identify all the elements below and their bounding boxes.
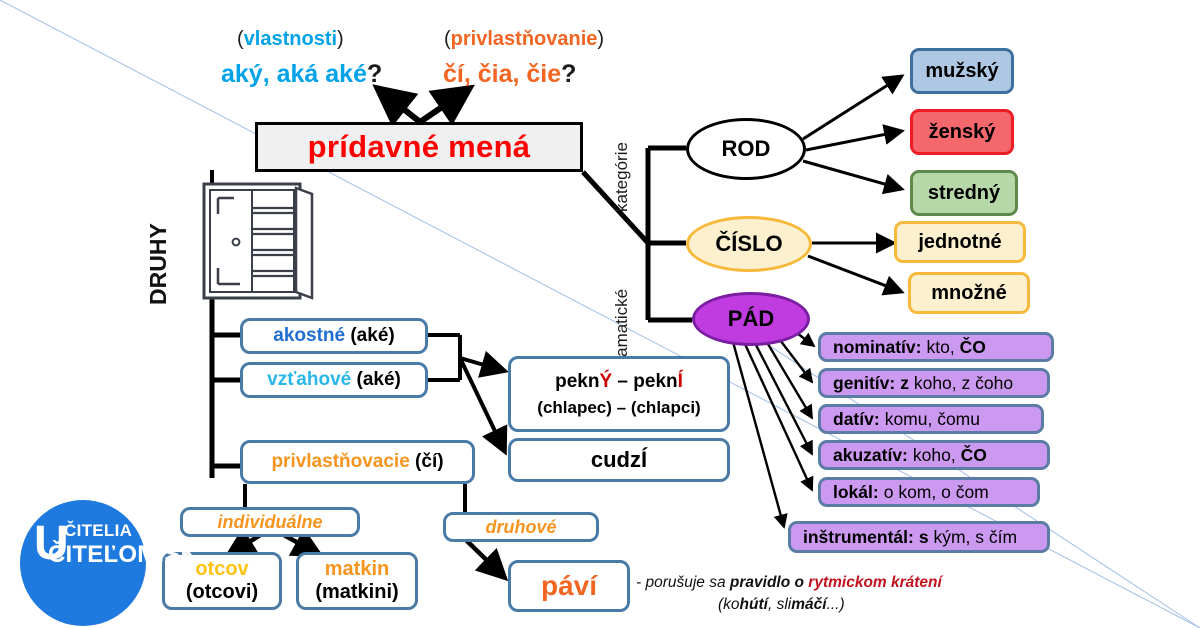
case-questions: kto, ČO [926, 337, 985, 358]
footnote-line-1: - porušuje sa pravidlo o rytmickom kráte… [636, 572, 942, 594]
gender-muzsky: mužský [910, 48, 1014, 94]
case-questions: s kým, s čím [919, 527, 1017, 548]
number-mnozne: množné [908, 272, 1030, 314]
privlastnovanie-text: privlastňovanie [451, 28, 598, 50]
case-lokal: lokál:o kom, o čom [818, 477, 1040, 507]
question-words-orange: čí, čia, čie [443, 60, 561, 88]
case-name: nominatív: [833, 337, 921, 358]
example-pekny-pekni: peknÝ – peknÍ (chlapec) – (chlapci) [508, 356, 730, 432]
logo-text-citelom: ČITEĽOM.SK [48, 543, 198, 567]
diagram-canvas: (vlastnosti) aký, aká aké? (privlastňova… [0, 0, 1200, 628]
number-jednotne: jednotné [894, 221, 1026, 263]
type-privlastnovacie-text: privlastňovacie (čí) [271, 451, 443, 473]
logo-text-citelia: ČITELIA [64, 522, 132, 539]
matkin-form: (matkini) [315, 581, 398, 604]
wardrobe-icon [200, 180, 320, 305]
kategorie-label: kategórie [612, 142, 632, 212]
subtype-individualne: individuálne [180, 507, 360, 537]
type-akostne: akostné (aké) [240, 318, 428, 354]
question-mark: ? [367, 60, 382, 88]
question-label-vlastnosti: (vlastnosti) [237, 28, 344, 51]
pavi-word: páví [541, 570, 597, 602]
case-name: akuzatív: [833, 445, 908, 466]
gender-stredny: stredný [910, 170, 1018, 216]
case-name: genitív: [833, 373, 895, 394]
case-nominativ: nominatív:kto, ČO [818, 332, 1054, 362]
subtype-druhove: druhové [443, 512, 599, 542]
type-privlastnovacie: privlastňovacie (čí) [240, 440, 475, 484]
paren-open: ( [237, 28, 244, 50]
type-vztahove-text: vzťahové (aké) [267, 369, 401, 391]
type-vztahove: vzťahové (aké) [240, 362, 428, 398]
case-questions: koho, ČO [913, 445, 987, 466]
footnote-line-2: (kohútí, slimáčí...) [718, 594, 845, 616]
example-cudzi-text: cudzÍ [591, 447, 647, 472]
question-label-privlastnovanie: (privlastňovanie) [444, 28, 604, 51]
case-name: inštrumentál: [803, 527, 914, 548]
case-genitiv: genitív:z koho, z čoho [818, 368, 1050, 398]
vlastnosti-text: vlastnosti [244, 28, 337, 50]
example-pavi: páví [508, 560, 630, 612]
logo-inner: U ČITELIA ČITEĽOM.SK [20, 500, 146, 626]
paren-close: ) [597, 28, 604, 50]
paren-close: ) [337, 28, 344, 50]
subtype-individualne-text: individuálne [217, 512, 322, 533]
otcov-form: (otcovi) [186, 581, 258, 604]
page-title: prídavné mená [255, 122, 583, 172]
otcov-word: otcov [195, 558, 248, 581]
case-questions: komu, čomu [885, 409, 980, 430]
druhy-label: DRUHY [145, 223, 172, 305]
paren-open: ( [444, 28, 451, 50]
case-questions: z koho, z čoho [900, 373, 1013, 394]
type-akostne-text: akostné (aké) [273, 325, 394, 347]
gender-zensky: ženský [910, 109, 1014, 155]
question-aky-aka-ake: aký, aká aké? [221, 60, 382, 89]
case-dativ: datív:komu, čomu [818, 404, 1044, 434]
example-matkin: matkin (matkini) [296, 552, 418, 610]
category-pad: PÁD [692, 292, 810, 346]
case-name: lokál: [833, 482, 879, 503]
category-rod: ROD [686, 118, 806, 180]
case-name: datív: [833, 409, 880, 430]
example-cudzi: cudzÍ [508, 438, 730, 482]
question-ci-cia-cie: čí, čia, čie? [443, 60, 576, 89]
example-line1: peknÝ – peknÍ [555, 371, 683, 393]
question-mark: ? [561, 60, 576, 88]
question-words-blue: aký, aká aké [221, 60, 367, 88]
matkin-word: matkin [325, 558, 389, 581]
category-cislo: ČÍSLO [686, 216, 812, 272]
logo[interactable]: U ČITELIA ČITEĽOM.SK [20, 500, 146, 626]
example-line2: (chlapec) – (chlapci) [537, 398, 700, 418]
case-questions: o kom, o čom [884, 482, 989, 503]
case-akuzativ: akuzatív:koho, ČO [818, 440, 1050, 470]
case-instrumental: inštrumentál:s kým, s čím [788, 521, 1050, 553]
subtype-druhove-text: druhové [485, 517, 556, 538]
